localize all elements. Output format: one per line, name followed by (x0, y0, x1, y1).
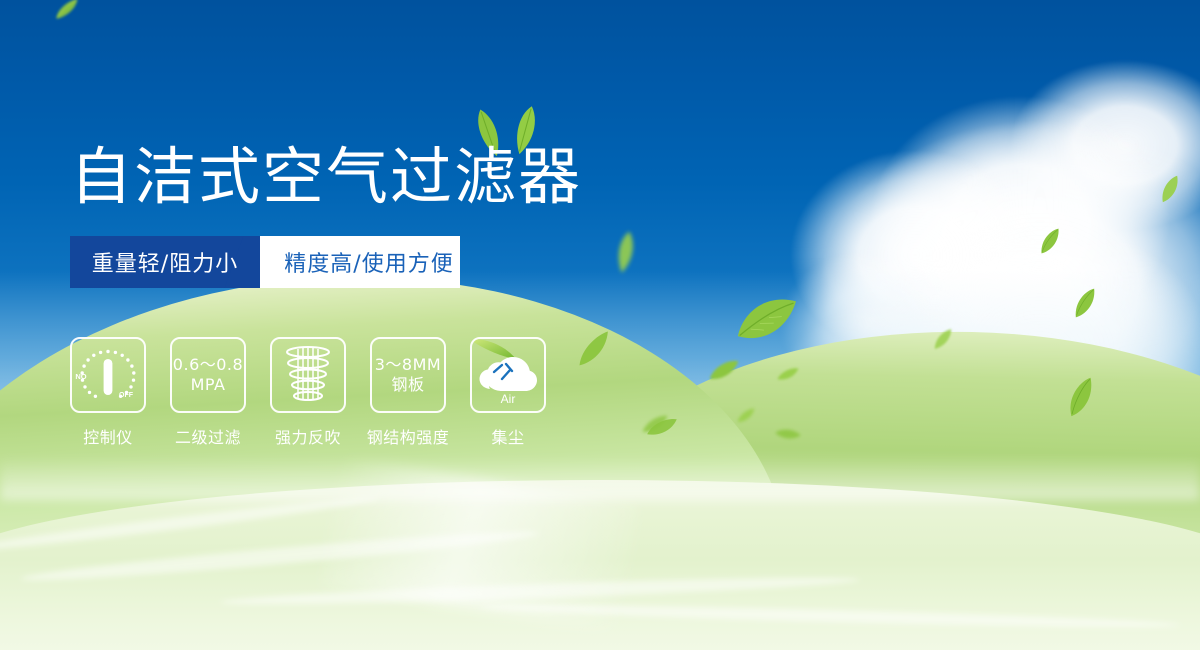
pressure-line-2: MPA (173, 375, 243, 395)
feature-item-backblow[interactable]: 强力反吹 (270, 337, 346, 448)
steel-plate-text-icon: 3〜8MM 钢板 (370, 337, 446, 413)
leaf-icon (1064, 282, 1107, 323)
cloud-air-icon: Air (470, 337, 546, 413)
gauge-no-label: NO (75, 372, 86, 381)
feature-label: 钢结构强度 (367, 424, 450, 448)
leaf-icon (730, 280, 801, 357)
steel-line-2: 钢板 (375, 375, 441, 395)
pressure-text-icon: 0.6〜0.8 MPA (170, 337, 246, 413)
tagline-left: 重量轻/阻力小 (70, 236, 260, 288)
feature-item-controller[interactable]: NO OFF 控制仪 (70, 337, 146, 448)
page-title: 自洁式空气过滤器 (70, 142, 582, 212)
feature-label: 二级过滤 (175, 424, 241, 448)
horizon-glow (0, 456, 1200, 500)
tagline-left-text: 重量轻/阻力小 (92, 246, 238, 278)
leaf-icon (1031, 223, 1068, 258)
feature-item-secondary-filter[interactable]: 0.6〜0.8 MPA 二级过滤 (170, 337, 246, 448)
feature-list: NO OFF 控制仪 0.6〜0.8 MPA 二级过滤 (70, 337, 546, 448)
tagline-badge: 重量轻/阻力小 精度高/使用方便 (70, 236, 460, 288)
steel-line-1: 3〜8MM (375, 355, 441, 375)
pressure-line-1: 0.6〜0.8 (173, 355, 243, 375)
gauge-icon: NO OFF (70, 337, 146, 413)
filter-cartridge-icon (270, 337, 346, 413)
feature-item-dust-collection[interactable]: Air 集尘 (470, 337, 546, 448)
hero-banner: 自洁式空气过滤器 重量轻/阻力小 精度高/使用方便 (0, 0, 1200, 650)
leaf-icon (609, 226, 640, 278)
feature-label: 控制仪 (83, 424, 133, 448)
cloud-shape (790, 150, 1040, 360)
feature-label: 强力反吹 (275, 424, 341, 448)
feature-label: 集尘 (491, 424, 524, 448)
cloud-shape (1010, 60, 1200, 230)
gauge-off-label: OFF (119, 392, 134, 399)
leaf-icon (50, 0, 85, 24)
tagline-right-text: 精度高/使用方便 (284, 246, 453, 278)
tagline-right: 精度高/使用方便 (260, 236, 460, 288)
cloud-shape (870, 96, 1170, 346)
leaf-icon (1151, 171, 1188, 207)
feature-item-steel-strength[interactable]: 3〜8MM 钢板 钢结构强度 (370, 337, 446, 448)
cloud-air-label: Air (501, 392, 516, 406)
